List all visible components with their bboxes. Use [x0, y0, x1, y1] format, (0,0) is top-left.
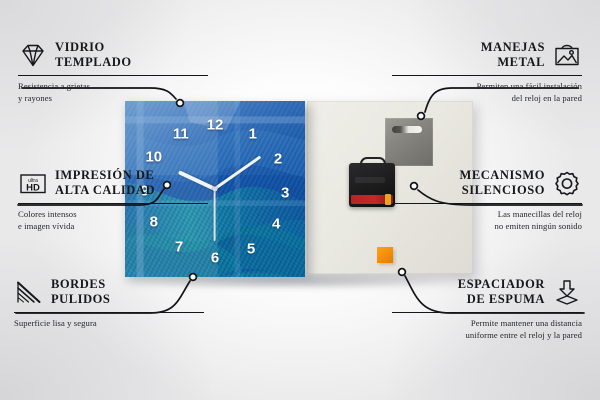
callout-description: Permite mantener una distancia uniforme … [392, 317, 582, 342]
gear-icon [552, 170, 582, 197]
ultra-hd-icon: ultra HD [18, 170, 48, 197]
callout-mecanismo-silencioso: MECANISMO SILENCIOSO Las manecillas del … [392, 168, 582, 233]
infographic-canvas: 12 1 2 3 4 5 6 7 8 9 10 11 [0, 0, 600, 400]
callout-title: IMPRESIÓN DE ALTA CALIDAD [55, 168, 155, 199]
diamond-icon [18, 42, 48, 69]
callout-title: BORDES PULIDOS [51, 277, 110, 308]
wall-hanger-frame-icon [552, 42, 582, 69]
clock-numeral-1: 1 [249, 126, 257, 141]
foam-spacer-pad [377, 247, 393, 263]
callout-title: ESPACIADOR DE ESPUMA [458, 277, 545, 308]
callout-description: Las manecillas del reloj no emiten ningú… [392, 208, 582, 233]
clock-mechanism [349, 163, 395, 207]
polished-edges-icon [14, 279, 44, 306]
callout-header: ultra HD IMPRESIÓN DE ALTA CALIDAD [18, 168, 208, 199]
callout-description: Superficie lisa y segura [14, 317, 204, 329]
clock-numeral-3: 3 [281, 185, 289, 200]
metal-hanger-plate [385, 118, 433, 166]
clock-second-hand [214, 189, 216, 241]
callout-description: Permiten una fácil instalación del reloj… [392, 80, 582, 105]
callout-header: BORDES PULIDOS [14, 277, 204, 308]
callout-title: MECANISMO SILENCIOSO [459, 168, 545, 199]
clock-center-cap [213, 187, 218, 192]
callout-header: MANEJAS METAL [392, 40, 582, 71]
callout-header: MECANISMO SILENCIOSO [392, 168, 582, 199]
callout-header: VIDRIO TEMPLADO [18, 40, 208, 71]
clock-numeral-10: 10 [145, 150, 162, 165]
callout-vidrio-templado: VIDRIO TEMPLADO Resistencia a grietas y … [18, 40, 208, 105]
mechanism-hook [360, 157, 386, 169]
callout-divider [18, 75, 208, 76]
callout-title: MANEJAS METAL [481, 40, 545, 71]
callout-espaciador-espuma: ESPACIADOR DE ESPUMA Permite mantener un… [392, 277, 582, 342]
callout-divider [392, 75, 582, 76]
callout-divider [392, 312, 582, 313]
callout-impresion-alta-calidad: ultra HD IMPRESIÓN DE ALTA CALIDAD Color… [18, 168, 208, 233]
callout-description: Colores intensos e imagen vívida [18, 208, 208, 233]
callout-header: ESPACIADOR DE ESPUMA [392, 277, 582, 308]
clock-numeral-4: 4 [272, 217, 280, 232]
callout-manejas-metal: MANEJAS METAL Permiten una fácil instala… [392, 40, 582, 105]
mechanism-highlight [355, 177, 385, 183]
clock-numeral-12: 12 [207, 117, 224, 132]
clock-numeral-5: 5 [247, 241, 255, 256]
foam-spacer-arrow-icon [552, 279, 582, 306]
mechanism-yellow-chip [385, 194, 391, 205]
callout-title: VIDRIO TEMPLADO [55, 40, 132, 71]
callout-bordes-pulidos: BORDES PULIDOS Superficie lisa y segura [14, 277, 204, 329]
ultra-hd-big-label: HD [26, 182, 40, 193]
clock-numeral-2: 2 [274, 152, 282, 167]
clock-numeral-11: 11 [173, 126, 189, 141]
callout-divider [18, 203, 208, 204]
callout-divider [392, 203, 582, 204]
callout-divider [14, 312, 204, 313]
clock-numeral-6: 6 [211, 250, 219, 265]
clock-numeral-7: 7 [175, 240, 183, 255]
hanger-slot [392, 126, 422, 133]
callout-description: Resistencia a grietas y rayones [18, 80, 208, 105]
